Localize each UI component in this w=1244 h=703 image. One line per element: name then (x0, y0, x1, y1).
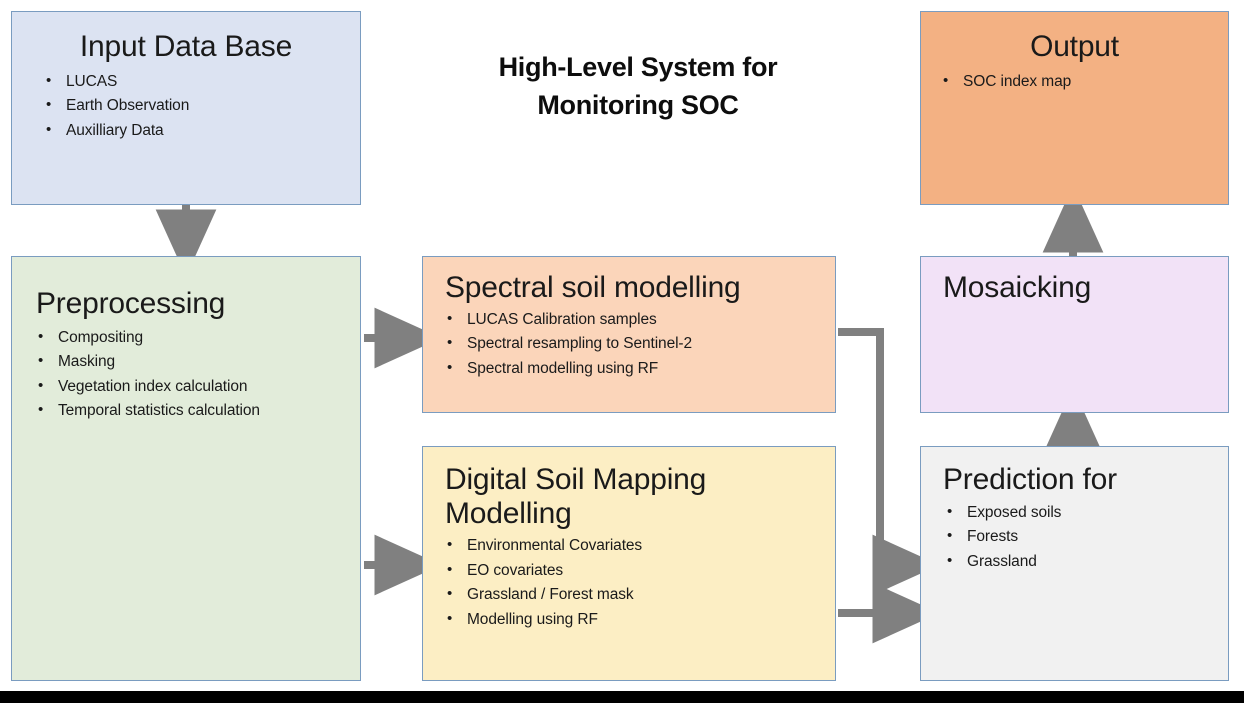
list-item: LUCAS (46, 70, 360, 94)
box-input-data-base-title: Input Data Base (12, 12, 360, 64)
box-prediction-for-bullets: Exposed soils Forests Grassland (921, 501, 1228, 574)
list-item: Compositing (38, 326, 360, 350)
diagram-title-line-1: High-Level System for (408, 48, 868, 86)
box-spectral-soil-modelling[interactable]: Spectral soil modelling LUCAS Calibratio… (422, 256, 836, 413)
box-preprocessing-title: Preprocessing (12, 257, 360, 321)
list-item: EO covariates (447, 559, 835, 583)
box-preprocessing[interactable]: Preprocessing Compositing Masking Vegeta… (11, 256, 361, 681)
box-spectral-soil-modelling-bullets: LUCAS Calibration samples Spectral resam… (423, 308, 835, 381)
box-preprocessing-bullets: Compositing Masking Vegetation index cal… (12, 326, 360, 424)
list-item: Masking (38, 350, 360, 374)
box-input-data-base[interactable]: Input Data Base LUCAS Earth Observation … (11, 11, 361, 205)
box-digital-soil-mapping-modelling-title: Digital Soil Mapping Modelling (423, 447, 775, 530)
box-input-data-base-bullets: LUCAS Earth Observation Auxilliary Data (12, 70, 360, 143)
box-prediction-for-title: Prediction for (921, 447, 1228, 497)
list-item: Temporal statistics calculation (38, 399, 360, 423)
box-digital-soil-mapping-modelling[interactable]: Digital Soil Mapping Modelling Environme… (422, 446, 836, 681)
list-item: Spectral resampling to Sentinel-2 (447, 332, 835, 356)
list-item: Spectral modelling using RF (447, 357, 835, 381)
list-item: SOC index map (943, 70, 1228, 94)
box-output[interactable]: Output SOC index map (920, 11, 1229, 205)
list-item: Modelling using RF (447, 608, 835, 632)
connector-spectral-to-prediction (838, 332, 906, 565)
list-item: Vegetation index calculation (38, 375, 360, 399)
list-item: Earth Observation (46, 94, 360, 118)
bottom-border-bar (0, 691, 1244, 703)
diagram-canvas: High-Level System for Monitoring SOC Inp… (0, 0, 1244, 703)
box-mosaicking-title: Mosaicking (921, 257, 1228, 305)
list-item: Environmental Covariates (447, 534, 835, 558)
box-mosaicking[interactable]: Mosaicking (920, 256, 1229, 413)
box-output-title: Output (921, 12, 1228, 64)
list-item: Auxilliary Data (46, 119, 360, 143)
list-item: Forests (947, 525, 1228, 549)
box-spectral-soil-modelling-title: Spectral soil modelling (423, 257, 835, 305)
box-prediction-for[interactable]: Prediction for Exposed soils Forests Gra… (920, 446, 1229, 681)
box-output-bullets: SOC index map (921, 70, 1228, 94)
list-item: LUCAS Calibration samples (447, 308, 835, 332)
box-digital-soil-mapping-modelling-bullets: Environmental Covariates EO covariates G… (423, 534, 835, 632)
list-item: Grassland (947, 550, 1228, 574)
diagram-title-line-2: Monitoring SOC (408, 86, 868, 124)
list-item: Grassland / Forest mask (447, 583, 835, 607)
diagram-title: High-Level System for Monitoring SOC (408, 48, 868, 125)
list-item: Exposed soils (947, 501, 1228, 525)
